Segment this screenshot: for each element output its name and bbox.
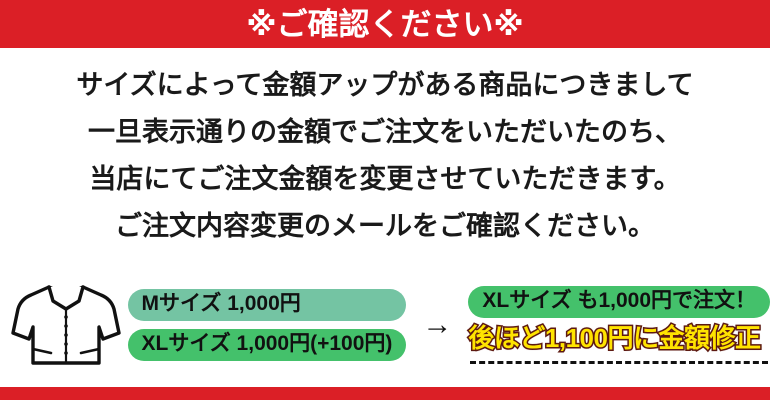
footer-bar (0, 387, 770, 400)
price-pill-size-xl: XLサイズ 1,000円(+100円) (128, 329, 407, 361)
order-note-pill: XLサイズ も1,000円で注文！ (468, 286, 770, 318)
notice-line-2: 一旦表示通りの金額でご注文をいただいたのち、 (0, 109, 770, 156)
header-title: ※ご確認ください※ (246, 9, 523, 40)
notice-line-3: 当店にてご注文金額を変更させていただきます。 (0, 156, 770, 203)
notice-banner: ※ご確認ください※ サイズによって金額アップがある商品につきまして 一旦表示通り… (0, 0, 770, 400)
correction-note-underline (470, 361, 768, 364)
arrow-right-icon: → (406, 310, 468, 340)
price-comparison-row: Mサイズ 1,000円 XLサイズ 1,000円(+100円) → XLサイズ … (0, 266, 770, 384)
dress-shirt-icon (8, 275, 124, 375)
correction-note-text: 後ほど1,100円に金額修正 (468, 324, 770, 354)
before-price-group: Mサイズ 1,000円 XLサイズ 1,000円(+100円) (128, 289, 407, 361)
price-pill-size-m: Mサイズ 1,000円 (128, 289, 407, 321)
notice-line-1: サイズによって金額アップがある商品につきまして (0, 62, 770, 109)
notice-body: サイズによって金額アップがある商品につきまして 一旦表示通りの金額でご注文をいた… (0, 62, 770, 250)
notice-line-4: ご注文内容変更のメールをご確認ください。 (0, 203, 770, 250)
correction-note: 後ほど1,100円に金額修正 (468, 324, 770, 364)
header-bar: ※ご確認ください※ (0, 0, 770, 48)
after-price-group: XLサイズ も1,000円で注文！ 後ほど1,100円に金額修正 (468, 286, 770, 364)
